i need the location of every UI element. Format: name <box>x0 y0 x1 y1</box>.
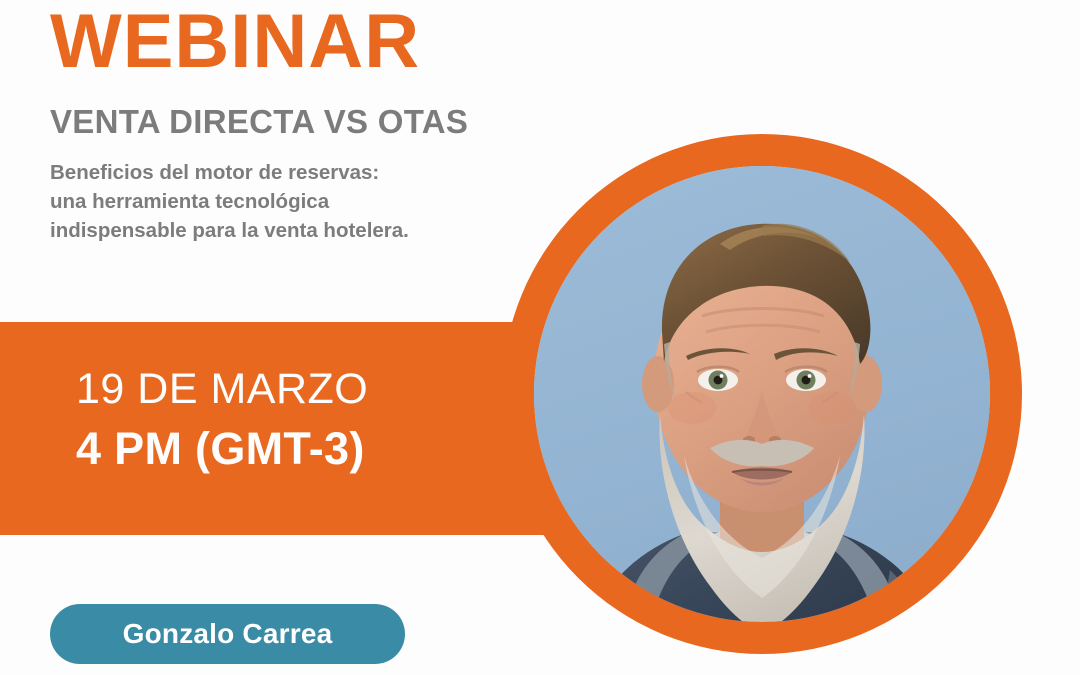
schedule-block: 19 DE MARZO 4 PM (GMT-3) <box>76 368 496 471</box>
webinar-time: 4 PM (GMT-3) <box>76 426 496 471</box>
description-line-1: Beneficios del motor de reservas: <box>50 158 530 187</box>
speaker-photo <box>534 166 990 622</box>
webinar-subtitle: VENTA DIRECTA VS OTAS <box>50 104 530 140</box>
webinar-poster: WEBINAR VENTA DIRECTA VS OTAS Beneficios… <box>0 0 1080 675</box>
description-line-3: indispensable para la venta hotelera. <box>50 216 530 245</box>
webinar-description: Beneficios del motor de reservas: una he… <box>50 158 530 245</box>
page-title: WEBINAR <box>50 2 530 82</box>
webinar-date: 19 DE MARZO <box>76 368 496 411</box>
speaker-name: Gonzalo Carrea <box>123 618 333 650</box>
portrait-illustration <box>534 166 990 622</box>
headline-block: WEBINAR VENTA DIRECTA VS OTAS Beneficios… <box>50 2 530 245</box>
speaker-badge: Gonzalo Carrea <box>50 604 405 664</box>
description-line-2: una herramienta tecnológica <box>50 187 530 216</box>
